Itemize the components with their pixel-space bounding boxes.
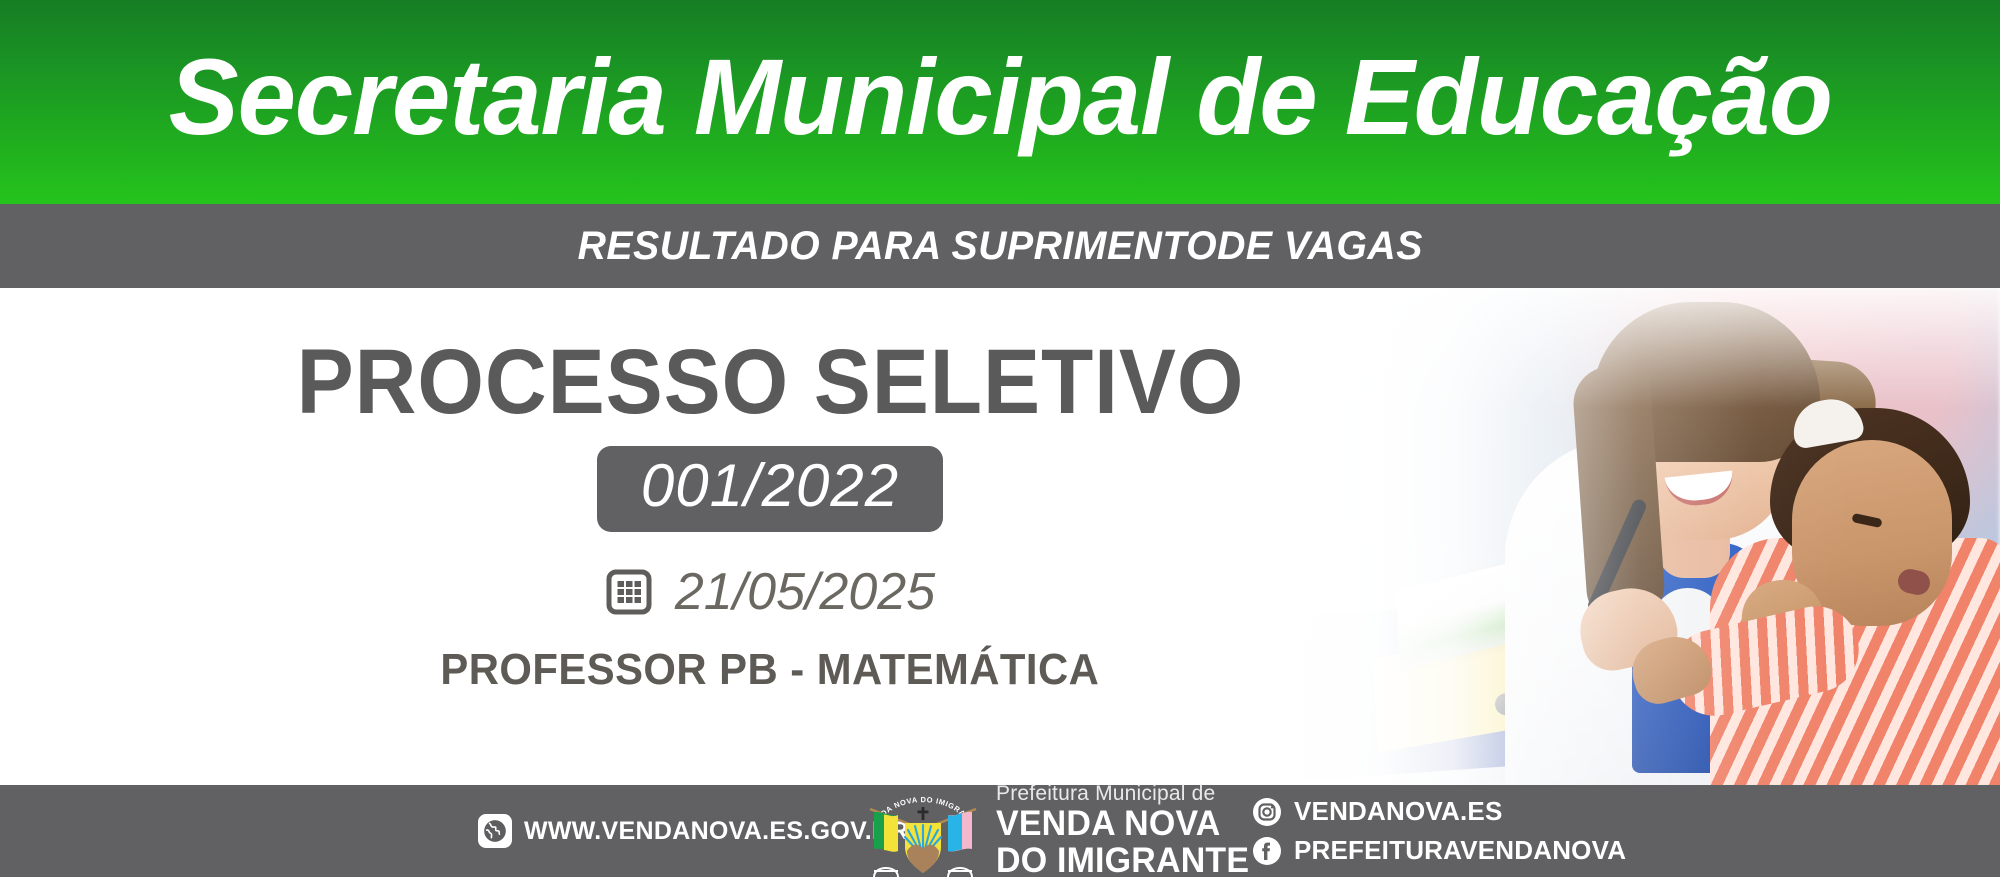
role-text: PROFESSOR PB - MATEMÁTICA <box>440 648 1099 692</box>
instagram-link[interactable]: VENDANOVA.ES <box>1252 796 1626 827</box>
facebook-handle: PREFEITURAVENDANOVA <box>1294 835 1626 866</box>
green-header-bar: Secretaria Municipal de Educação <box>0 0 2000 204</box>
subtitle-bar: RESULTADO PARA SUPRIMENTODE VAGAS <box>0 204 2000 288</box>
globe-icon <box>478 814 512 848</box>
announcement-banner: Secretaria Municipal de Educação RESULTA… <box>0 0 2000 877</box>
logo-prefeitura-label: Prefeitura Municipal de <box>996 783 1257 804</box>
logo-city-line2: DO IMIGRANTE <box>996 843 1249 877</box>
subtitle-text: RESULTADO PARA SUPRIMENTODE VAGAS <box>577 224 1422 269</box>
logo-wordmark: Prefeitura Municipal de VENDA NOVA DO IM… <box>996 783 1257 877</box>
announcement-content: PROCESSO SELETIVO 001/2022 21 <box>0 288 1540 785</box>
process-number-text: 001/2022 <box>641 452 899 519</box>
coat-of-arms-icon: VENDA NOVA DO IMIGRANTE <box>862 785 984 877</box>
process-title: PROCESSO SELETIVO <box>296 336 1244 428</box>
process-number-badge: 001/2022 <box>597 446 943 532</box>
instagram-icon <box>1252 797 1282 827</box>
municipality-logo: VENDA NOVA DO IMIGRANTE <box>862 785 1257 877</box>
website-text: WWW.VENDANOVA.ES.GOV.BR <box>524 817 909 846</box>
facebook-link[interactable]: PREFEITURAVENDANOVA <box>1252 835 1626 866</box>
calendar-icon <box>605 568 653 616</box>
facebook-icon <box>1252 836 1282 866</box>
logo-city-line1: VENDA NOVA <box>996 806 1249 842</box>
date-row: 21/05/2025 <box>605 566 935 618</box>
instagram-handle: VENDANOVA.ES <box>1294 796 1503 827</box>
social-links: VENDANOVA.ES PREFEITURAVENDANOVA <box>1252 796 1626 866</box>
website-link[interactable]: WWW.VENDANOVA.ES.GOV.BR <box>478 814 909 848</box>
page-title: Secretaria Municipal de Educação <box>168 43 1831 161</box>
footer-bar: WWW.VENDANOVA.ES.GOV.BR VENDA NOVA DO IM… <box>0 785 2000 877</box>
publication-date: 21/05/2025 <box>675 566 935 618</box>
